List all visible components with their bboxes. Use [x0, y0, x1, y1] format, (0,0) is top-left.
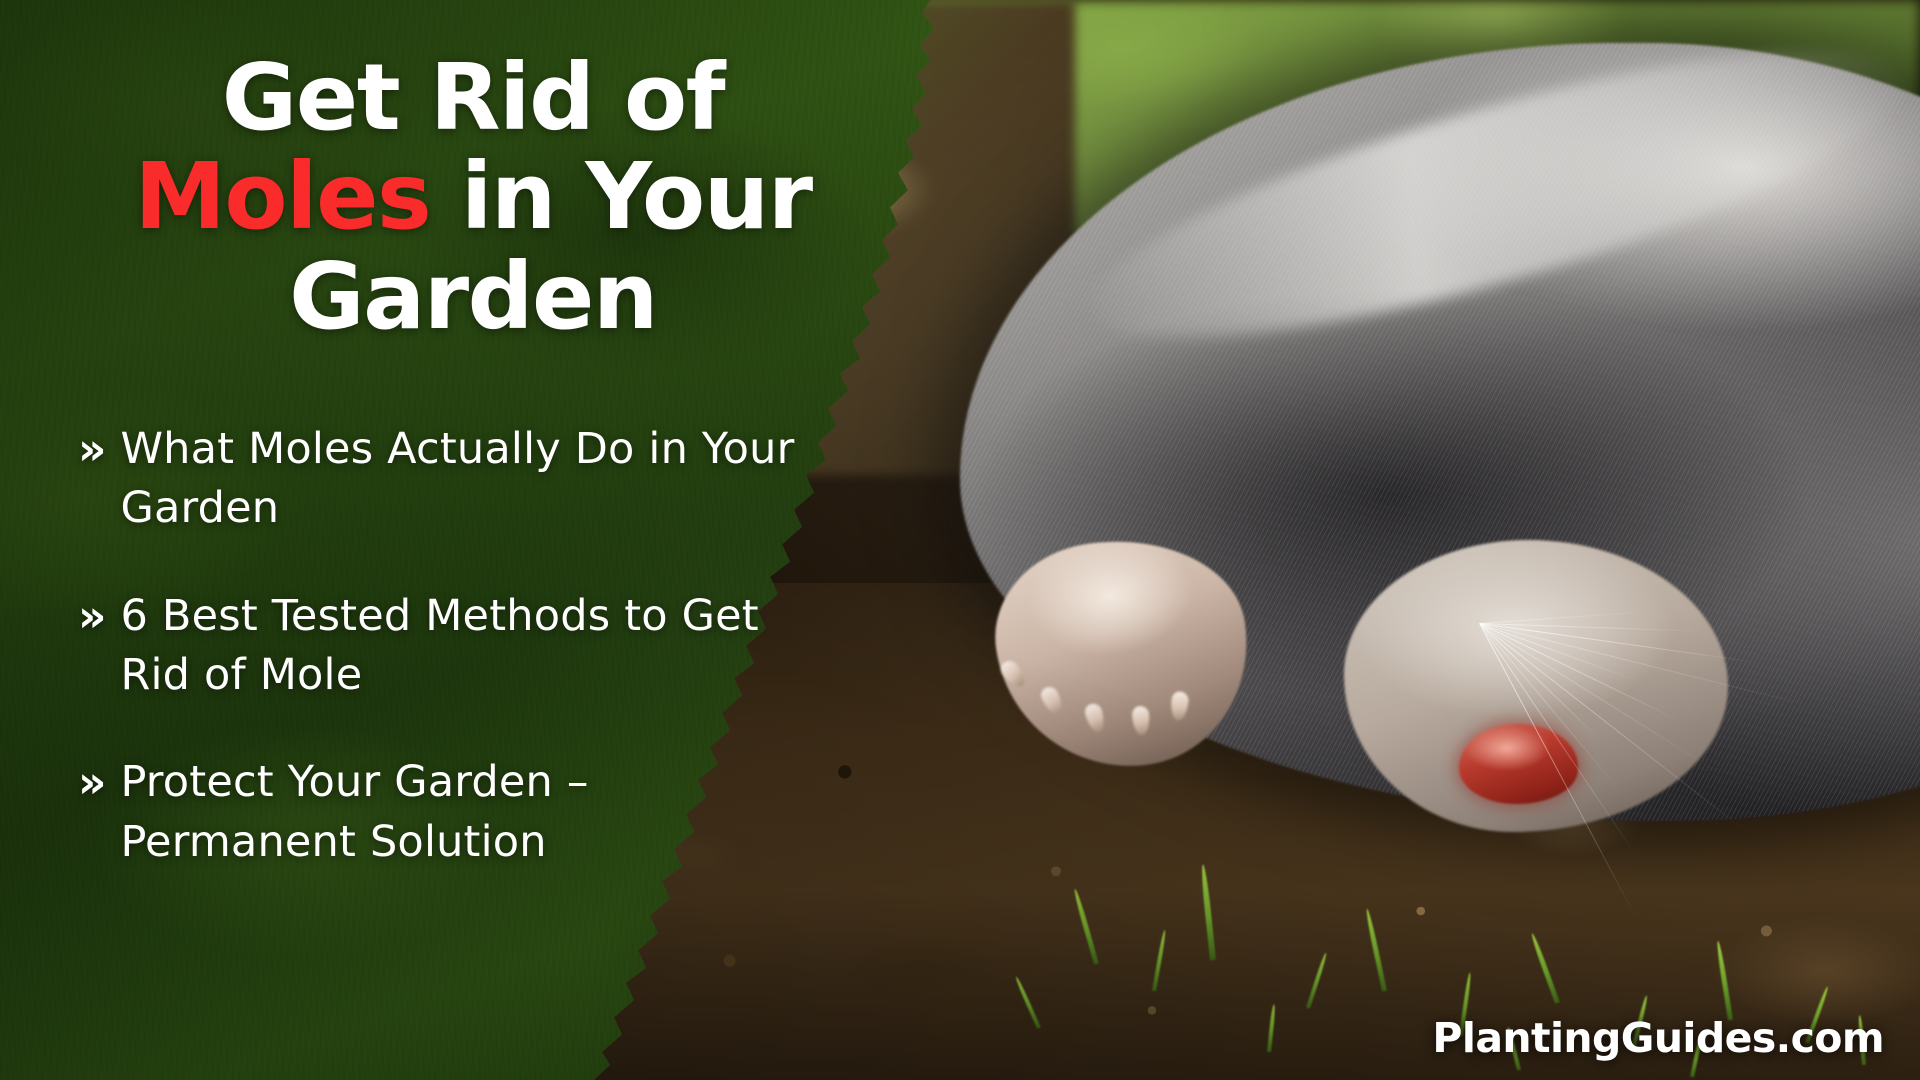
content-column: Get Rid of Moles in Your Garden »What Mo…	[0, 0, 1000, 1080]
topic-list-item-label: 6 Best Tested Methods to Get Rid of Mole	[120, 587, 820, 706]
page-title: Get Rid of Moles in Your Garden	[78, 48, 868, 346]
mole-claw	[1132, 705, 1151, 736]
topic-list-item[interactable]: »What Moles Actually Do in Your Garden	[78, 420, 868, 539]
topic-list-item[interactable]: »6 Best Tested Methods to Get Rid of Mol…	[78, 587, 868, 706]
chevron-double-right-icon: »	[78, 761, 102, 805]
mole-claw	[1170, 691, 1190, 722]
mole-claw	[1083, 701, 1108, 734]
chevron-double-right-icon: »	[78, 428, 102, 472]
headline-highlight-moles: Moles	[134, 143, 430, 250]
poster-canvas: Get Rid of Moles in Your Garden »What Mo…	[0, 0, 1920, 1080]
chevron-double-right-icon: »	[78, 595, 102, 639]
site-watermark: PlantingGuides.com	[1432, 1014, 1884, 1062]
topic-list-item[interactable]: »Protect Your Garden – Permanent Solutio…	[78, 753, 868, 872]
mole-claw	[1039, 684, 1068, 718]
topic-list-item-label: Protect Your Garden – Permanent Solution	[120, 753, 820, 872]
topic-list-item-label: What Moles Actually Do in Your Garden	[120, 420, 820, 539]
headline-part-1: Get Rid of	[222, 44, 724, 151]
topic-list: »What Moles Actually Do in Your Garden»6…	[78, 420, 868, 872]
